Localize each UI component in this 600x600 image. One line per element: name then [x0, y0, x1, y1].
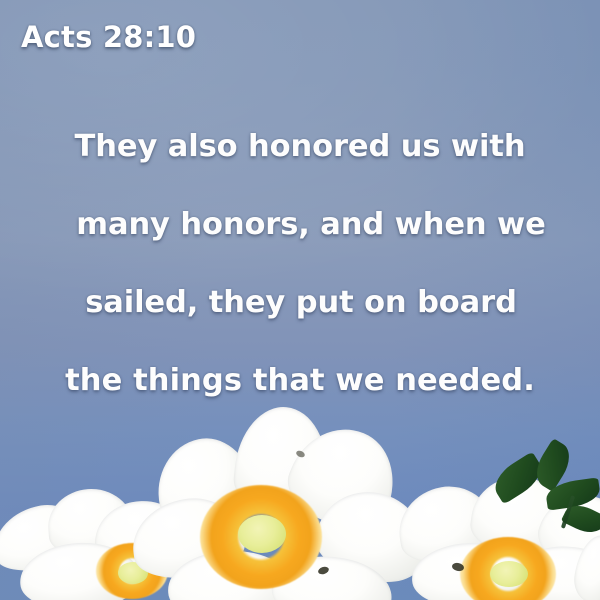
verse-line: many honors, and when we: [0, 186, 600, 264]
verse-line: the things that we needed.: [0, 342, 600, 420]
verse-reference-title: Acts 28:10: [21, 20, 196, 54]
verse-text-block: They also honored us with many honors, a…: [0, 108, 600, 420]
verse-line: sailed, they put on board: [0, 264, 600, 342]
verse-line: They also honored us with: [0, 108, 600, 186]
flower-field: [0, 415, 600, 600]
verse-image-canvas: Acts 28:10 They also honored us with man…: [0, 0, 600, 600]
